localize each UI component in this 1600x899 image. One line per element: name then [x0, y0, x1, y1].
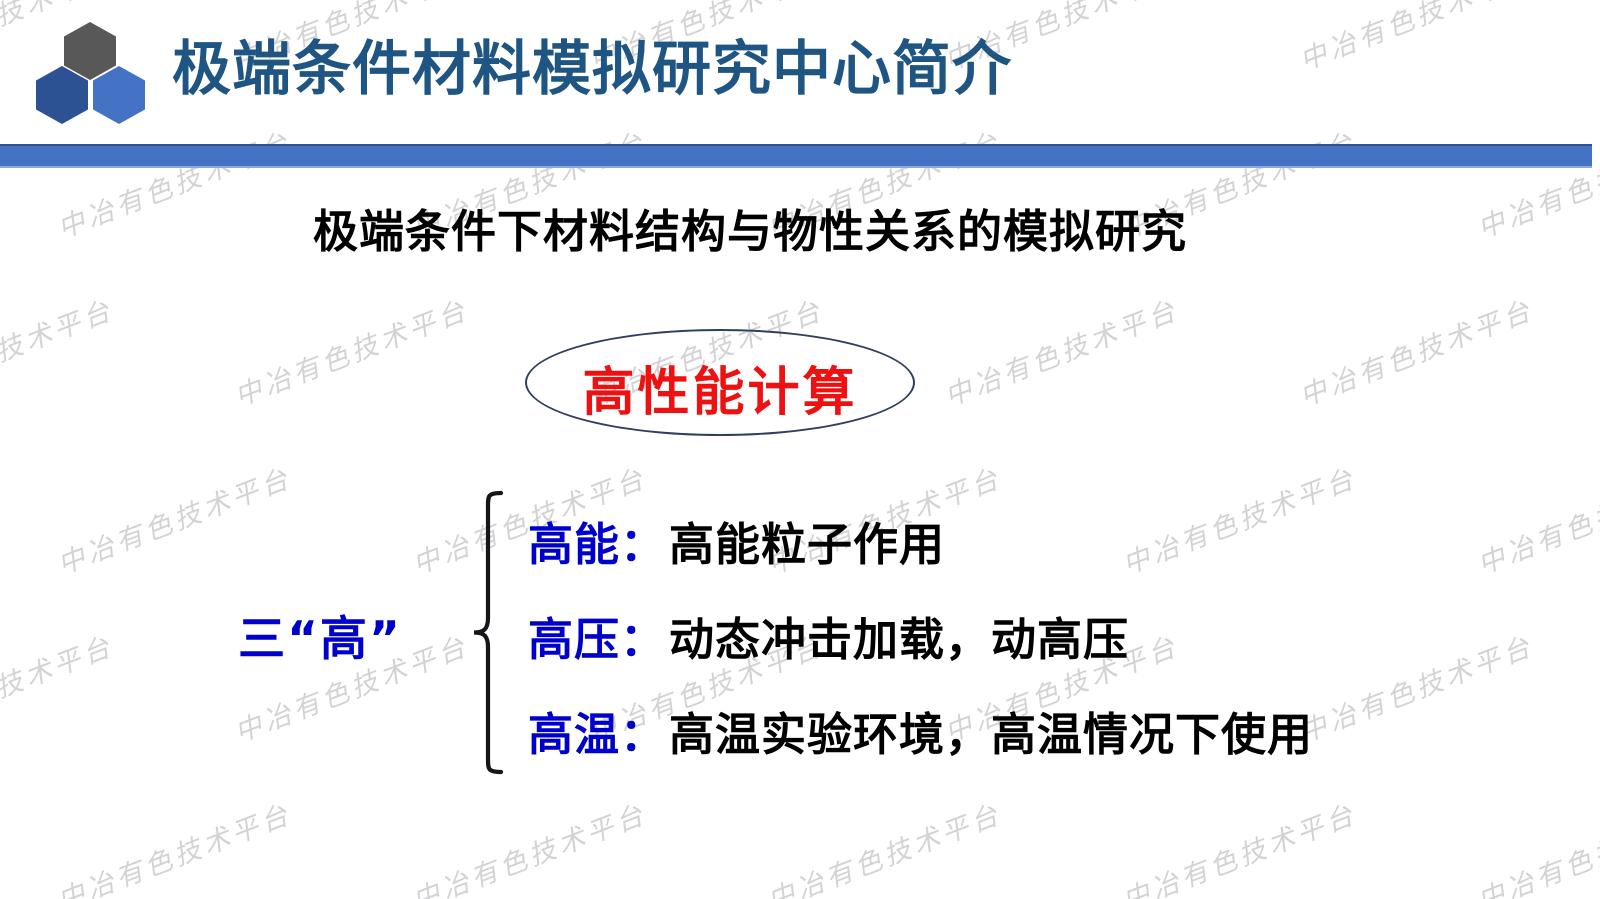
item-key: 高温 — [528, 698, 620, 763]
slide-canvas: 极端条件材料模拟研究中心简介 极端条件下材料结构与物性关系的模拟研究 高性能计算… — [0, 0, 1600, 899]
list-item: 高温 ： 高温实验环境，高温情况下使用 — [528, 683, 1548, 778]
slide-header: 极端条件材料模拟研究中心简介 — [0, 0, 1600, 143]
slide-subtitle: 极端条件下材料结构与物性关系的模拟研究 — [0, 195, 1500, 260]
curly-brace-icon — [468, 490, 508, 775]
item-value: 动态冲击加载，动高压 — [669, 603, 1129, 668]
item-value: 高温实验环境，高温情况下使用 — [669, 698, 1313, 763]
hexagon-bottom-right-icon — [93, 66, 145, 124]
three-high-group-label: 三“高” — [205, 600, 435, 669]
slide-body: 极端条件下材料结构与物性关系的模拟研究 高性能计算 三“高” 高能 ： 高能粒子… — [0, 168, 1600, 899]
item-key: 高压 — [528, 603, 620, 668]
item-separator: ： — [620, 508, 665, 573]
item-separator: ： — [620, 603, 665, 668]
header-divider-bar — [0, 144, 1592, 168]
hexagon-bottom-left-icon — [36, 66, 88, 124]
page-title: 极端条件材料模拟研究中心简介 — [172, 38, 1012, 100]
highlight-label: 高性能计算 — [525, 350, 915, 425]
item-key: 高能 — [528, 508, 620, 573]
item-separator: ： — [620, 698, 665, 763]
three-high-item-list: 高能 ： 高能粒子作用 高压 ： 动态冲击加载，动高压 高温 ： 高温实验环境，… — [528, 493, 1548, 778]
list-item: 高压 ： 动态冲击加载，动高压 — [528, 588, 1548, 683]
list-item: 高能 ： 高能粒子作用 — [528, 493, 1548, 588]
item-value: 高能粒子作用 — [669, 508, 945, 573]
hexagon-top-icon — [64, 22, 116, 80]
hexagon-logo-icon — [36, 22, 144, 126]
